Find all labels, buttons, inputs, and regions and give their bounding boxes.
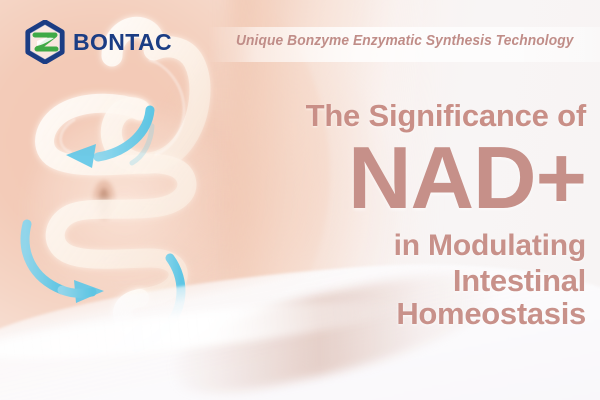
headline-block: The Significance of NAD+ in Modulating I…: [256, 100, 586, 330]
headline-nad-plus: NAD+: [256, 134, 586, 222]
headline-line-3: in Modulating: [256, 230, 586, 262]
brand-logo[interactable]: BONTAC: [24, 20, 172, 64]
hexagon-leaf-logo-icon: [24, 20, 66, 64]
headline-line-1: The Significance of: [256, 100, 586, 132]
tagline-text: Unique Bonzyme Enzymatic Synthesis Techn…: [236, 33, 569, 49]
brand-wordmark: BONTAC: [73, 31, 172, 54]
headline-line-4: Intestinal Homeostasis: [256, 265, 586, 330]
promo-banner: BONTAC Unique Bonzyme Enzymatic Synthesi…: [0, 0, 600, 400]
